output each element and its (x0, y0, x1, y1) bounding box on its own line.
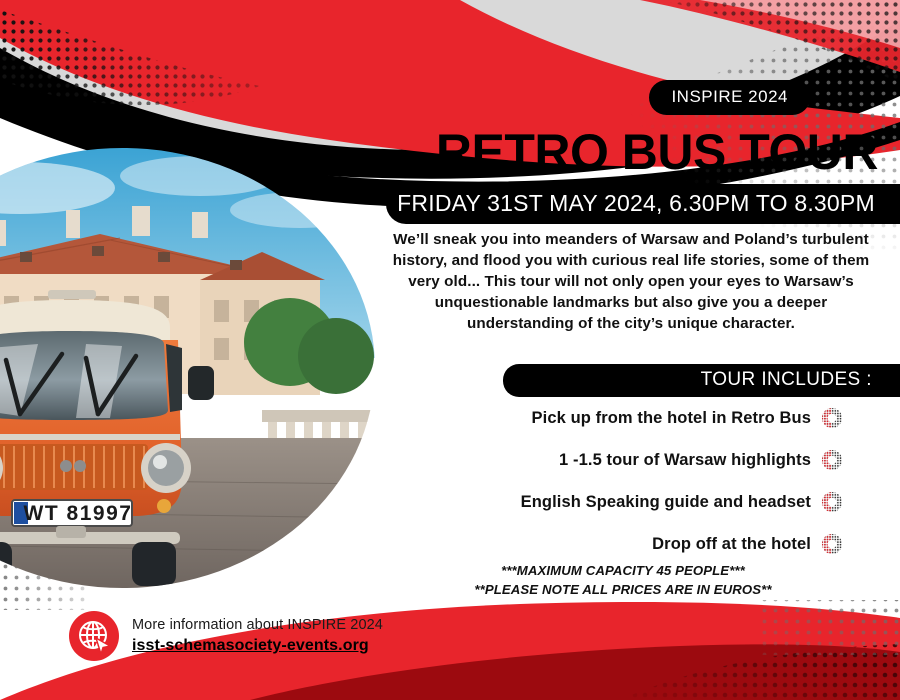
globe-cursor-icon (68, 610, 120, 662)
flyer-content: INSPIRE 2024 RETRO BUS TOUR FRIDAY 31ST … (378, 0, 900, 700)
note-max-capacity: ***MAXIMUM CAPACITY 45 PEOPLE*** (378, 562, 868, 581)
note-prices-euros: **PLEASE NOTE ALL PRICES ARE IN EUROS** (378, 581, 868, 600)
tour-includes-heading: TOUR INCLUDES : (503, 364, 900, 397)
tour-includes-list: Pick up from the hotel in Retro Bus (378, 404, 843, 572)
wave-darkred-top (120, 0, 420, 80)
website-link[interactable]: isst-schemasociety-events.org (132, 636, 369, 655)
description-text: We’ll sneak you into meanders of Warsaw … (382, 230, 880, 335)
footer-text-block: More information about INSPIRE 2024 isst… (132, 617, 383, 656)
list-item-label: Pick up from the hotel in Retro Bus (532, 409, 811, 428)
halftone-top-left (0, 10, 260, 105)
halftone-dot-icon (821, 449, 843, 471)
flyer-canvas: WT 81997 INSPIRE 2024 RETRO BUS TOUR FRI… (0, 0, 900, 700)
footer-info-line: More information about INSPIRE 2024 (132, 617, 383, 634)
retro-bus-illustration: WT 81997 (0, 148, 375, 588)
halftone-dot-icon (821, 491, 843, 513)
capacity-notes: ***MAXIMUM CAPACITY 45 PEOPLE*** **PLEAS… (378, 562, 868, 599)
list-item-label: 1 -1.5 tour of Warsaw highlights (559, 451, 811, 470)
page-title: RETRO BUS TOUR (436, 126, 878, 179)
halftone-dot-icon (821, 407, 843, 429)
svg-text:WT 81997: WT 81997 (24, 502, 133, 525)
list-item: Pick up from the hotel in Retro Bus (378, 404, 843, 432)
list-item: Drop off at the hotel (378, 530, 843, 558)
retro-bus-photo: WT 81997 (0, 148, 375, 588)
footer: More information about INSPIRE 2024 isst… (68, 610, 383, 662)
inspire-badge: INSPIRE 2024 (649, 80, 810, 115)
list-item-label: English Speaking guide and headset (521, 493, 811, 512)
list-item: 1 -1.5 tour of Warsaw highlights (378, 446, 843, 474)
list-item-label: Drop off at the hotel (652, 535, 811, 554)
list-item: English Speaking guide and headset (378, 488, 843, 516)
halftone-dot-icon (821, 533, 843, 555)
date-time-banner: FRIDAY 31ST MAY 2024, 6.30PM TO 8.30PM (386, 184, 900, 224)
